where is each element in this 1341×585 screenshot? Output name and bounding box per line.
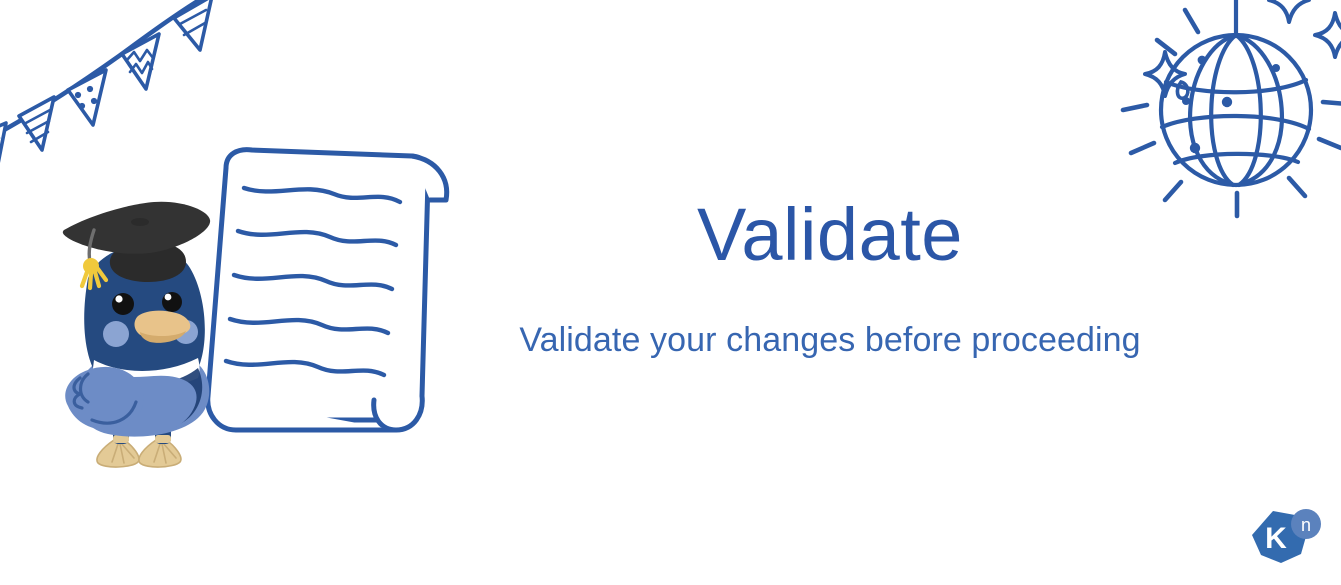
hero-text-block: Validate Validate your changes before pr… (330, 198, 1330, 361)
graduate-bird-mascot-icon (58, 186, 233, 476)
logo-n-glyph: n (1301, 515, 1311, 535)
page-title: Validate (330, 198, 1330, 272)
logo-k-glyph: K (1265, 522, 1287, 555)
kubernetes-n-logo: K n (1243, 503, 1327, 575)
party-bunting-icon (0, 0, 224, 182)
page-subtitle: Validate your changes before proceeding (330, 320, 1330, 361)
slide-canvas: Validate Validate your changes before pr… (0, 0, 1341, 585)
